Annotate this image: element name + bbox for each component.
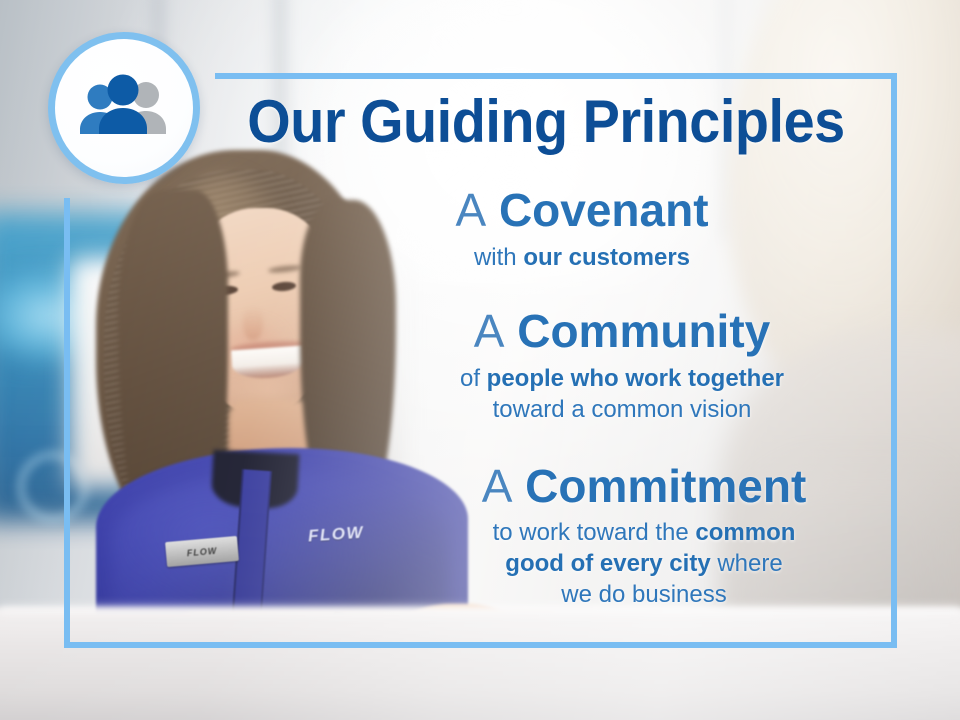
plain-text: we do business [561,581,726,608]
emphasis-text: our customers [523,244,690,271]
plain-text: toward a common vision [493,396,752,423]
people-group-icon-badge [48,32,200,184]
emphasis-text: common [695,519,795,546]
principle-description: to work toward the commongood of every c… [408,518,880,610]
principle-description-line: with our customers [284,243,880,274]
plain-text: to work toward the [493,519,696,546]
principle-article: A [474,305,505,357]
principle-commitment: A Commitment to work toward the commongo… [408,462,880,611]
poster-canvas: FLOW FLOW [0,0,960,720]
photo-desk-surface [0,608,960,720]
principle-description: of people who work togethertoward a comm… [364,364,880,425]
principle-word: Commitment [525,460,806,512]
principle-word: Community [517,305,770,357]
principle-article: A [482,460,513,512]
principle-description-line: of people who work together [364,364,880,395]
plain-text: where [711,550,783,577]
principles-list: A Covenant with our customers A Communit… [300,186,880,611]
principle-article: A [455,184,486,236]
principle-heading: A Covenant [284,186,880,235]
people-group-icon [72,72,176,144]
principle-heading: A Community [364,307,880,356]
principle-heading: A Commitment [408,462,880,511]
principle-description: with our customers [284,243,880,274]
principle-description-line: good of every city where [408,549,880,580]
emphasis-text: people who work together [487,365,784,392]
plain-text: with [474,244,523,271]
principle-covenant: A Covenant with our customers [284,186,880,273]
emphasis-text: good of every city [505,550,710,577]
principle-community: A Community of people who work togethert… [364,307,880,425]
page-title: Our Guiding Principles [230,92,862,152]
principle-description-line: we do business [408,580,880,611]
principle-description-line: to work toward the common [408,518,880,549]
principle-word: Covenant [499,184,709,236]
plain-text: of [460,365,487,392]
principle-description-line: toward a common vision [364,395,880,426]
associate-nose [243,306,263,340]
